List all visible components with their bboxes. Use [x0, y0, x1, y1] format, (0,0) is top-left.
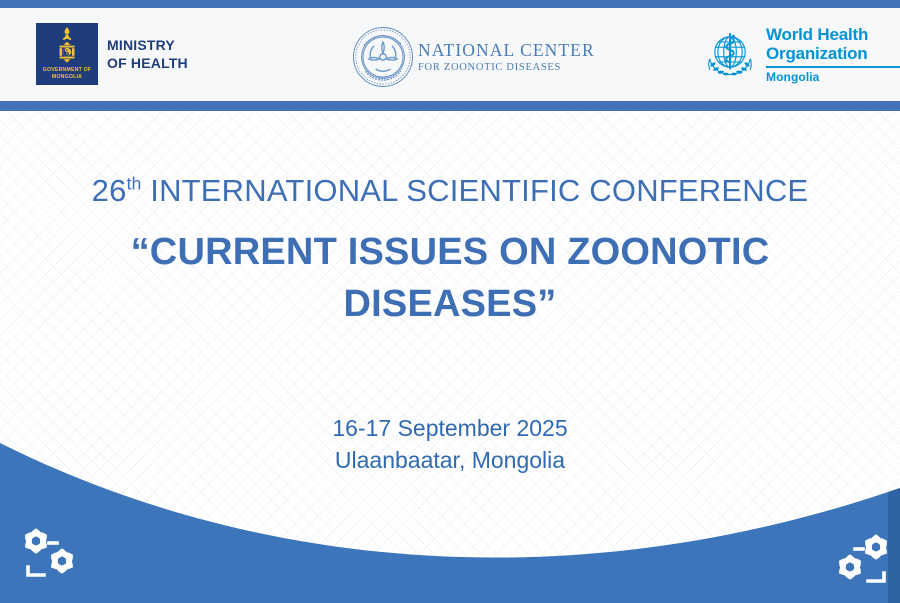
emblem-caption-line2: MONGOLIA: [36, 74, 98, 81]
conference-ordinal-suffix: th: [127, 174, 142, 194]
who-name-line1: World Health: [766, 25, 900, 44]
top-accent-bar: [0, 0, 900, 8]
footer-wave-decoration: [0, 430, 900, 603]
ornament-left: [14, 521, 94, 583]
ministry-of-health-name: MINISTRY OF HEALTH: [107, 36, 188, 72]
zoonotic-seal-icon: . 1951: [352, 26, 414, 88]
who-mongolia-logo: World Health Organization Mongolia: [700, 25, 900, 85]
emblem-caption: GOVERNMENT OF MONGOLIA: [36, 67, 98, 80]
ministry-of-health-logo: GOVERNMENT OF MONGOLIA MINISTRY OF HEALT…: [36, 23, 188, 85]
conference-title-slide: GOVERNMENT OF MONGOLIA MINISTRY OF HEALT…: [0, 0, 900, 603]
title-block: 26th INTERNATIONAL SCIENTIFIC CONFERENCE…: [0, 170, 900, 330]
conference-title-line2: DISEASES”: [0, 278, 900, 330]
conference-title-line1: “CURRENT ISSUES ON ZOONOTIC: [0, 226, 900, 278]
serpent-head: [732, 35, 735, 38]
who-name-block: World Health Organization Mongolia: [766, 25, 900, 84]
soyombo-icon: [49, 26, 85, 66]
emblem-caption-line1: GOVERNMENT OF: [36, 67, 98, 74]
conference-heading: 26th INTERNATIONAL SCIENTIFIC CONFERENCE: [0, 170, 900, 212]
conference-title: “CURRENT ISSUES ON ZOONOTIC DISEASES”: [0, 226, 900, 330]
ncz-name-line2: FOR ZOONOTIC DISEASES: [418, 62, 595, 74]
svg-text:.: .: [382, 26, 383, 27]
header-divider-bar: [0, 101, 900, 111]
conference-heading-rest: INTERNATIONAL SCIENTIFIC CONFERENCE: [141, 173, 808, 208]
ornament-right: [818, 527, 898, 589]
mongolia-government-emblem: GOVERNMENT OF MONGOLIA: [36, 23, 98, 85]
conference-number: 26: [92, 173, 127, 208]
national-center-name: NATIONAL CENTER FOR ZOONOTIC DISEASES: [418, 40, 595, 73]
ministry-name-line1: MINISTRY: [107, 36, 188, 54]
logo-row: GOVERNMENT OF MONGOLIA MINISTRY OF HEALT…: [0, 8, 900, 101]
ministry-name-line2: OF HEALTH: [107, 54, 188, 72]
who-emblem-icon: [700, 25, 760, 85]
national-center-zoonotic-diseases-logo: . 1951: [352, 26, 595, 88]
who-underline-rule: [766, 66, 900, 68]
footer-wave-blue: [0, 443, 900, 603]
seal-year: 1951: [378, 76, 388, 81]
who-country-label: Mongolia: [766, 70, 900, 84]
who-name-line2: Organization: [766, 44, 900, 63]
ncz-name-line1: NATIONAL CENTER: [418, 40, 595, 60]
